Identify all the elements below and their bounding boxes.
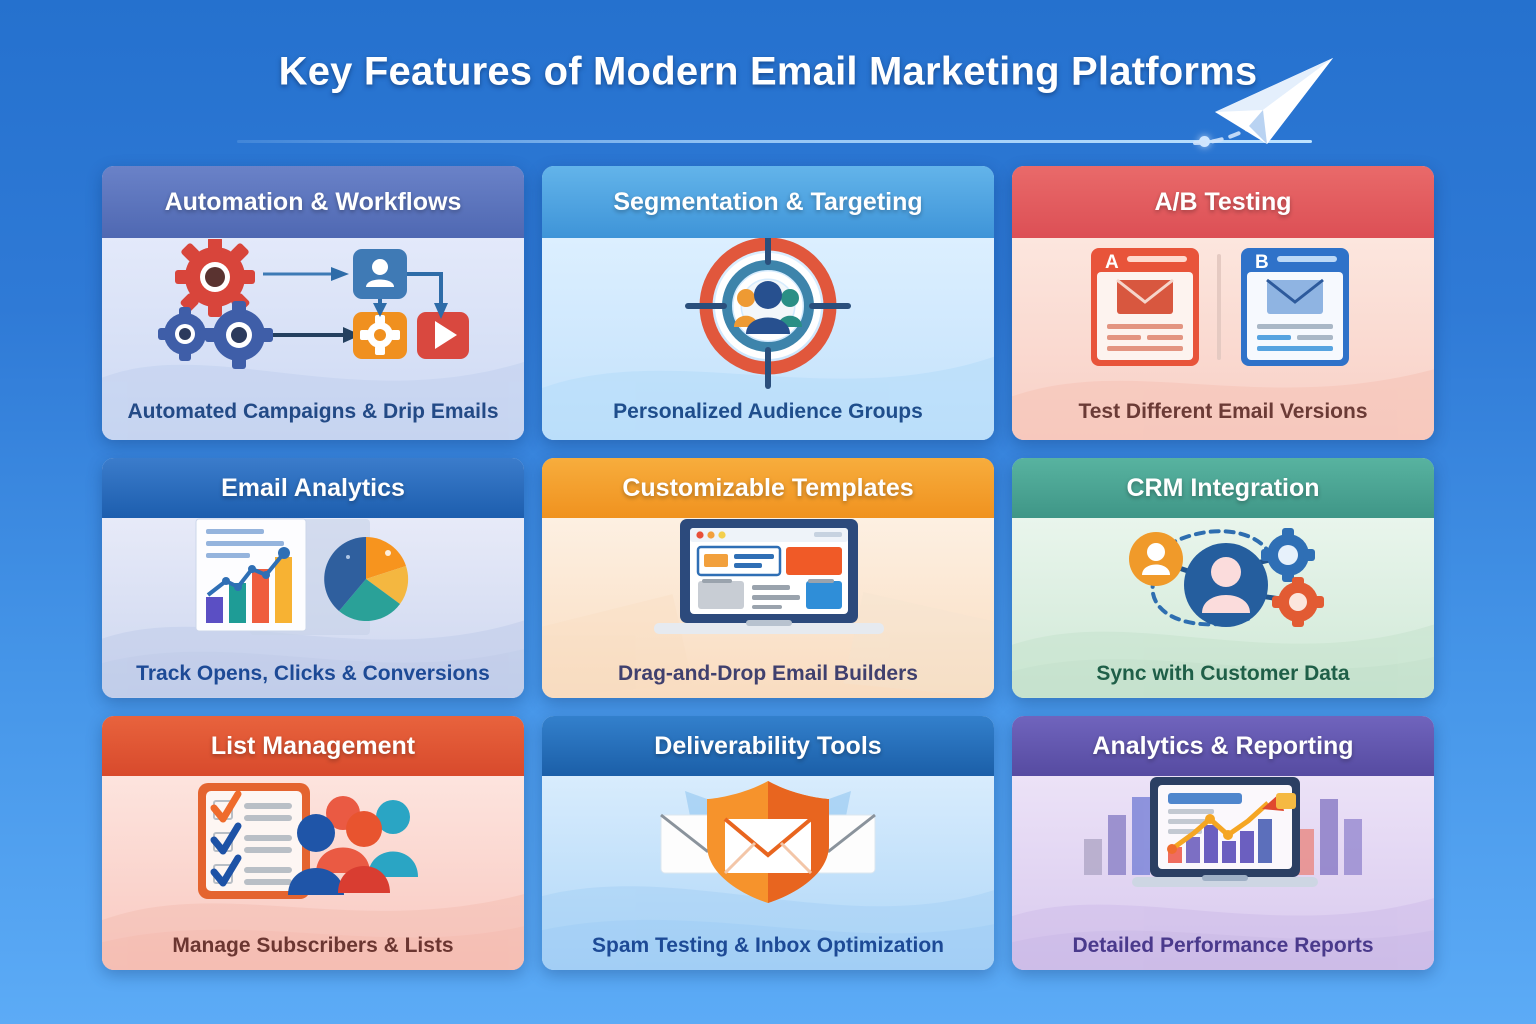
title-underline (237, 140, 1312, 143)
card-automation-workflows[interactable]: Automation & Workflows (102, 166, 524, 440)
card-title: Automation & Workflows (165, 188, 462, 217)
card-caption: Personalized Audience Groups (542, 400, 994, 424)
checklist-people-icon (102, 780, 524, 904)
card-segmentation-targeting[interactable]: Segmentation & Targeting (542, 166, 994, 440)
card-list-management[interactable]: List Management (102, 716, 524, 970)
card-body-crm: Sync with Customer Data (1012, 518, 1434, 698)
card-crm-integration[interactable]: CRM Integration (1012, 458, 1434, 698)
card-customizable-templates[interactable]: Customizable Templates (542, 458, 994, 698)
card-title: Customizable Templates (622, 474, 913, 503)
card-body-automation: Automated Campaigns & Drip Emails (102, 238, 524, 440)
card-caption: Sync with Customer Data (1012, 662, 1434, 686)
card-header-automation: Automation & Workflows (102, 166, 524, 238)
card-ab-testing[interactable]: A/B Testing A (1012, 166, 1434, 440)
card-header-segmentation: Segmentation & Targeting (542, 166, 994, 238)
card-title: List Management (211, 732, 415, 761)
card-caption: Test Different Email Versions (1012, 400, 1434, 424)
card-header-deliverability: Deliverability Tools (542, 716, 994, 776)
card-header-list-management: List Management (102, 716, 524, 776)
card-header-templates: Customizable Templates (542, 458, 994, 518)
card-caption: Spam Testing & Inbox Optimization (542, 934, 994, 958)
ab-panels-icon: A (1012, 242, 1434, 371)
card-body-list-management: Manage Subscribers & Lists (102, 776, 524, 970)
laptop-report-chart-icon (1012, 780, 1434, 904)
target-audience-icon (542, 242, 994, 371)
paper-plane-icon (1205, 52, 1340, 152)
card-caption: Manage Subscribers & Lists (102, 934, 524, 958)
card-title: Segmentation & Targeting (613, 188, 922, 217)
card-header-email-analytics: Email Analytics (102, 458, 524, 518)
svg-text:B: B (1255, 252, 1269, 273)
card-body-analytics-reporting: Detailed Performance Reports (1012, 776, 1434, 970)
crm-users-gears-icon (1012, 522, 1434, 637)
card-analytics-reporting[interactable]: Analytics & Reporting (1012, 716, 1434, 970)
card-body-email-analytics: Track Opens, Clicks & Conversions (102, 518, 524, 698)
card-header-ab-testing: A/B Testing (1012, 166, 1434, 238)
svg-text:A: A (1105, 252, 1119, 273)
gears-workflow-icon (102, 242, 524, 371)
bar-pie-chart-icon (102, 522, 524, 637)
card-title: A/B Testing (1154, 188, 1291, 217)
feature-card-grid: Automation & Workflows (102, 166, 1434, 966)
card-caption: Automated Campaigns & Drip Emails (102, 400, 524, 424)
infographic-page: Key Features of Modern Email Marketing P… (0, 0, 1536, 1024)
card-title: Email Analytics (221, 474, 405, 503)
card-email-analytics[interactable]: Email Analytics (102, 458, 524, 698)
page-header: Key Features of Modern Email Marketing P… (0, 30, 1536, 140)
card-title: CRM Integration (1126, 474, 1319, 503)
card-body-templates: Drag-and-Drop Email Builders (542, 518, 994, 698)
laptop-builder-icon (542, 522, 994, 637)
card-body-ab-testing: A (1012, 238, 1434, 440)
card-title: Analytics & Reporting (1092, 732, 1353, 761)
card-caption: Drag-and-Drop Email Builders (542, 662, 994, 686)
card-caption: Detailed Performance Reports (1012, 934, 1434, 958)
card-body-segmentation: Personalized Audience Groups (542, 238, 994, 440)
card-header-crm: CRM Integration (1012, 458, 1434, 518)
card-body-deliverability: Spam Testing & Inbox Optimization (542, 776, 994, 970)
card-caption: Track Opens, Clicks & Conversions (102, 662, 524, 686)
shield-envelope-icon (542, 780, 994, 904)
card-title: Deliverability Tools (654, 732, 881, 761)
card-header-analytics-reporting: Analytics & Reporting (1012, 716, 1434, 776)
card-deliverability-tools[interactable]: Deliverability Tools (542, 716, 994, 970)
